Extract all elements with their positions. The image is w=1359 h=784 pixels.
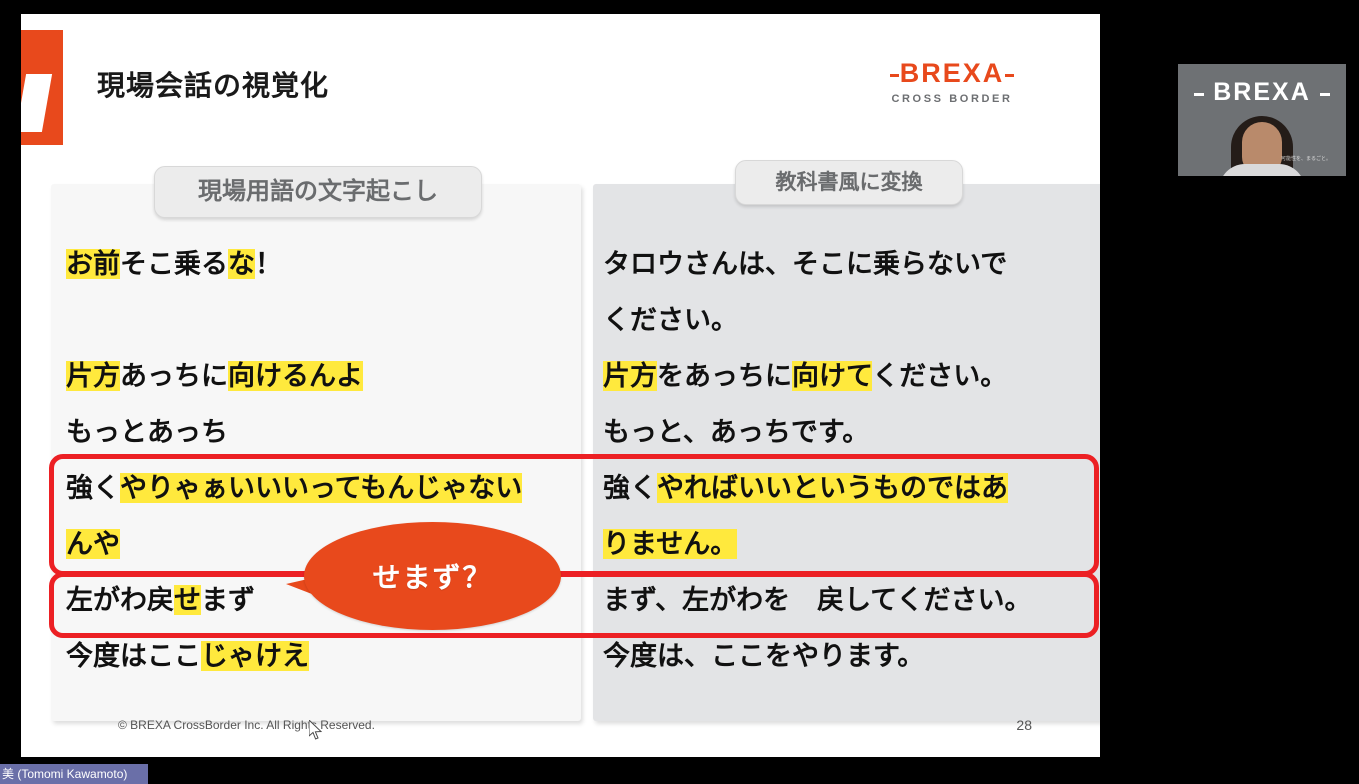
plain-text: もっと、あっちです。: [603, 417, 869, 447]
participant-name-label: 美 (Tomomi Kawamoto): [0, 764, 148, 784]
plain-text: そこ乗る: [120, 249, 228, 279]
text-line: 片方あっちに向けるんよ: [66, 348, 566, 404]
text-line: お前そこ乗るな！: [66, 236, 566, 292]
video-brexa-overlay: BREXA: [1178, 78, 1346, 107]
highlighted-text: 向けるんよ: [228, 361, 363, 391]
copyright-notice: © BREXA CrossBorder Inc. All Rights Rese…: [118, 718, 375, 732]
text-line: タロウさんは、そこに乗らないで: [603, 236, 1083, 292]
plain-text: 今度はここ: [66, 641, 201, 671]
highlighted-text: 片方: [66, 361, 120, 391]
speech-bubble-label: せまず？: [372, 556, 492, 596]
speech-bubble: せまず？: [304, 522, 561, 630]
highlighted-text: んや: [66, 529, 120, 559]
text-line: もっと、あっちです。: [603, 404, 1083, 460]
video-feed: BREXA 可能性を、まるごと。: [1178, 64, 1346, 176]
plain-text: タロウさんは、そこに乗らないで: [603, 249, 1007, 279]
plain-text: あっちに: [120, 361, 228, 391]
page-title: 現場会話の視覚化: [97, 64, 329, 104]
highlighted-text: やりゃぁいいいってもんじゃない: [120, 473, 522, 503]
text-line: 強くやればいいというものではあ: [603, 460, 1083, 516]
brexa-logo: BREXA CROSS BORDER: [862, 60, 1042, 105]
highlighted-text: 片方: [603, 361, 657, 391]
mouse-cursor-icon: [309, 720, 323, 740]
transcript-panel-label: 現場用語の文字起こし: [154, 166, 482, 218]
plain-text: 左がわ戻: [66, 585, 174, 615]
brand-k-mark-icon: [21, 30, 63, 145]
highlighted-text: じゃけえ: [201, 641, 309, 671]
converted-panel-label: 教科書風に変換: [735, 160, 963, 205]
brexa-logo-tagline: CROSS BORDER: [862, 93, 1042, 105]
video-corner-caption: 可能性を、まるごと。: [1281, 156, 1341, 162]
plain-text: まず: [201, 585, 255, 615]
text-line: [66, 292, 566, 348]
plain-text: 強く: [603, 473, 657, 503]
screen-share-stage: 現場会話の視覚化 BREXA CROSS BORDER 現場用語の文字起こし 教…: [0, 0, 1359, 784]
plain-text: もっとあっち: [66, 417, 228, 447]
plain-text: ！: [255, 249, 282, 279]
plain-text: 今度は、ここをやります。: [603, 641, 924, 671]
plain-text: まず、左がわを 戻してください。: [603, 585, 1032, 615]
text-line: 今度は、ここをやります。: [603, 628, 1083, 684]
brand-k-mark-cut: [21, 74, 52, 132]
text-line: ください。: [603, 292, 1083, 348]
highlighted-text: お前: [66, 249, 120, 279]
plain-text: ください。: [872, 361, 1007, 391]
converted-text-block: タロウさんは、そこに乗らないでください。片方をあっちに向けてください。もっと、あ…: [603, 236, 1083, 684]
plain-text: ください。: [603, 305, 738, 335]
text-line: 片方をあっちに向けてください。: [603, 348, 1083, 404]
text-line: りません。: [603, 516, 1083, 572]
brexa-logo-wordmark: BREXA: [900, 60, 1005, 87]
plain-text: をあっちに: [657, 361, 792, 391]
bottom-black-bar: [0, 758, 1359, 784]
plain-text: 強く: [66, 473, 120, 503]
text-line: 強くやりゃぁいいいってもんじゃない: [66, 460, 566, 516]
text-line: まず、左がわを 戻してください。: [603, 572, 1083, 628]
highlighted-text: な: [228, 249, 255, 279]
slide-page-number: 28: [1016, 717, 1032, 733]
presentation-slide: 現場会話の視覚化 BREXA CROSS BORDER 現場用語の文字起こし 教…: [21, 14, 1100, 757]
highlighted-text: 向けて: [792, 361, 872, 391]
highlighted-text: せ: [174, 585, 201, 615]
participant-video-tile[interactable]: BREXA 可能性を、まるごと。: [1172, 58, 1352, 182]
text-line: 今度はここじゃけえ: [66, 628, 566, 684]
highlighted-text: りません。: [603, 529, 737, 559]
highlighted-text: やればいいというものではあ: [657, 473, 1008, 503]
text-line: もっとあっち: [66, 404, 566, 460]
